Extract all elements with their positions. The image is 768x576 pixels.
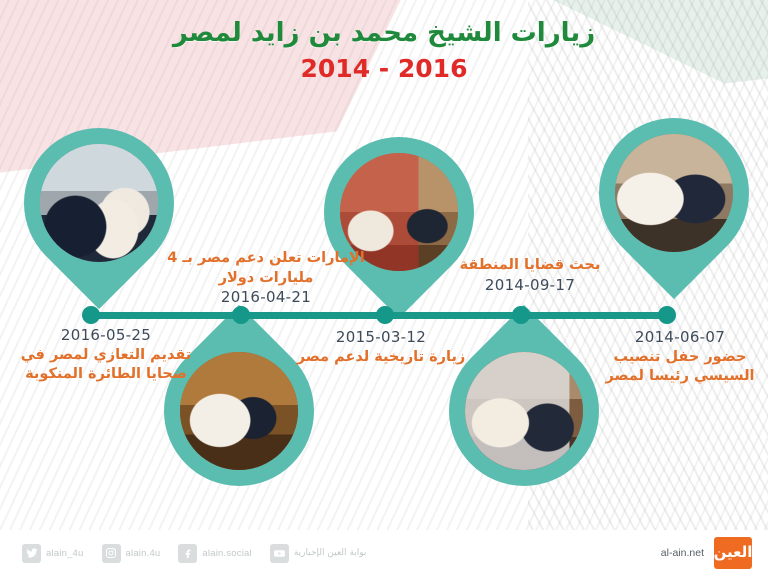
timeline-label-4: بحث قضايا المنطقة 2014-09-17 [442, 255, 618, 294]
photo-image [40, 144, 158, 262]
event-description: بحث قضايا المنطقة [442, 256, 618, 276]
social-youtube[interactable]: بوابة العين الإخبارية [270, 544, 367, 563]
infographic-canvas: زيارات الشيخ محمد بن زايد لمصر 2014 - 20… [0, 0, 768, 576]
event-date: 2015-03-12 [292, 328, 470, 347]
pin-photo [615, 134, 733, 252]
twitter-handle: alain_4u [46, 548, 84, 559]
event-description: زيارة تاريخية لدعم مصر [292, 348, 470, 368]
timeline-dot-2[interactable] [232, 306, 250, 324]
pin-photo [465, 352, 583, 470]
instagram-icon [102, 544, 121, 563]
timeline-label-5: 2014-06-07 حضور حفل تنصيب السيسي رئيسا ل… [600, 328, 760, 387]
brand-block[interactable]: al-ain.net العين [661, 537, 752, 569]
youtube-icon [270, 544, 289, 563]
youtube-handle: بوابة العين الإخبارية [294, 548, 367, 558]
photo-image [465, 352, 583, 470]
timeline-label-2: الإمارات تعلن دعم مصر بـ 4 مليارات دولار… [146, 248, 386, 307]
page-title: زيارات الشيخ محمد بن زايد لمصر [0, 18, 768, 50]
event-date: 2014-06-07 [600, 328, 760, 347]
social-instagram[interactable]: alain.4u [102, 544, 161, 563]
facebook-icon [178, 544, 197, 563]
event-date: 2014-09-17 [442, 276, 618, 295]
title-block: زيارات الشيخ محمد بن زايد لمصر 2014 - 20… [0, 18, 768, 84]
instagram-handle: alain.4u [126, 548, 161, 559]
event-description: حضور حفل تنصيب السيسي رئيسا لمصر [600, 348, 760, 387]
facebook-handle: alain.social [202, 548, 251, 559]
timeline-dot-1[interactable] [82, 306, 100, 324]
timeline-dot-3[interactable] [376, 306, 394, 324]
event-date: 2016-05-25 [8, 326, 204, 345]
photo-image [615, 134, 733, 252]
timeline-label-1: 2016-05-25 تقديم التعازي لمصر في ضحايا ا… [8, 326, 204, 385]
photo-pin-5 [599, 118, 749, 268]
event-date: 2016-04-21 [146, 288, 386, 307]
timeline-dot-5[interactable] [658, 306, 676, 324]
social-links: alain_4u alain.4u alai [22, 544, 376, 563]
event-description: تقديم التعازي لمصر في ضحايا الطائرة المن… [8, 346, 204, 385]
footer: alain_4u alain.4u alai [0, 530, 768, 576]
pin-photo [40, 144, 158, 262]
timeline-dot-4[interactable] [512, 306, 530, 324]
title-year-range: 2014 - 2016 [0, 54, 768, 84]
photo-pin-4 [449, 336, 599, 486]
event-description: الإمارات تعلن دعم مصر بـ 4 مليارات دولار [146, 249, 386, 288]
social-twitter[interactable]: alain_4u [22, 544, 84, 563]
timeline-label-3: 2015-03-12 زيارة تاريخية لدعم مصر [292, 328, 470, 367]
al-ain-logo: العين [714, 537, 752, 569]
twitter-icon [22, 544, 41, 563]
brand-url: al-ain.net [661, 547, 704, 559]
social-facebook[interactable]: alain.social [178, 544, 251, 563]
